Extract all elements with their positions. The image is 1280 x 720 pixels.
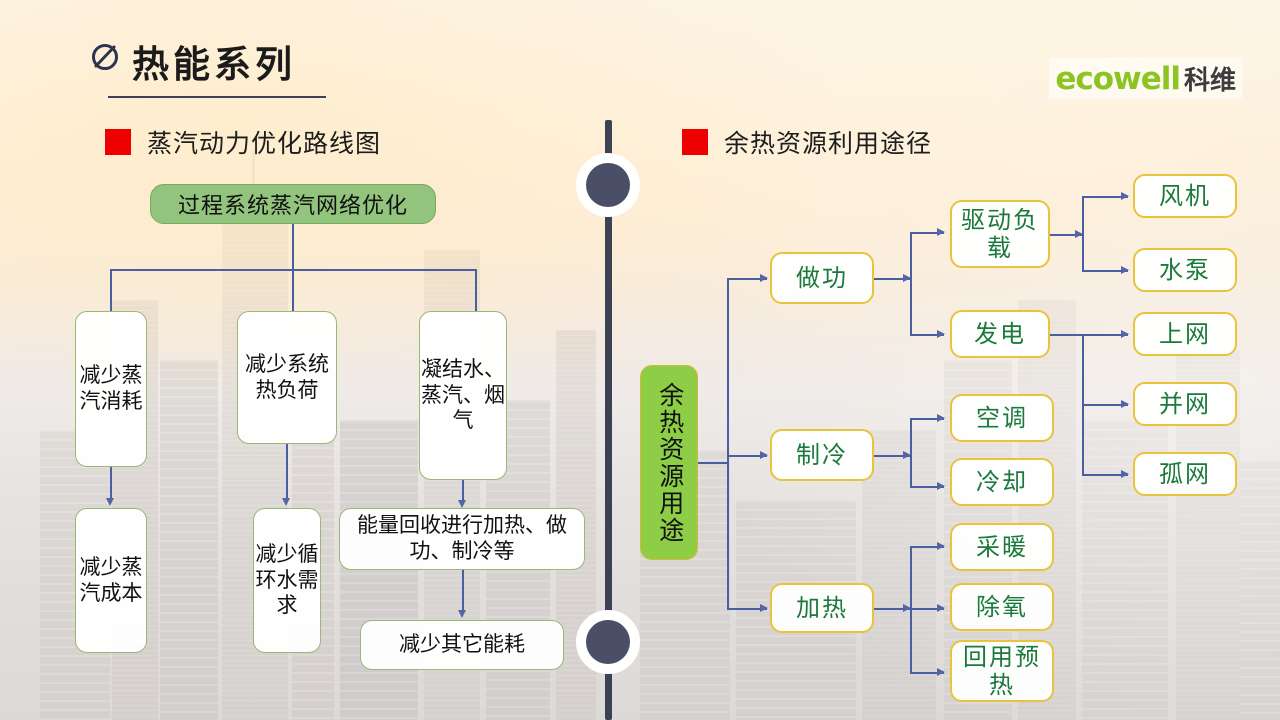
arrow-l1-l2-3 xyxy=(458,500,466,508)
right-child-label-3-2: 除氧 xyxy=(976,593,1028,621)
arrow-leaf-5 xyxy=(1121,470,1129,478)
right-branch-label-3: 加热 xyxy=(796,594,848,622)
right-child-box-2-1[interactable]: 空调 xyxy=(950,394,1054,442)
arrow-b3-child-1 xyxy=(937,542,945,550)
connector-b2-bus xyxy=(910,418,912,486)
connector-root-stem xyxy=(292,224,294,269)
arrow-l1-l2-1 xyxy=(106,498,114,506)
brand-logo: ecowell 科维 xyxy=(1049,58,1242,99)
right-branch-label-1: 做功 xyxy=(796,264,848,292)
connector-b1-bus xyxy=(910,232,912,334)
left-level3-label-1: 减少其它能耗 xyxy=(399,632,525,658)
left-section-heading: 蒸汽动力优化路线图 xyxy=(105,124,381,160)
connector-right-bus xyxy=(727,278,729,610)
left-level2-label-1: 减少蒸汽成本 xyxy=(76,555,146,606)
right-child-label-2-1: 空调 xyxy=(976,404,1028,432)
axis-node-top xyxy=(576,153,640,217)
right-leaf-label-5: 孤网 xyxy=(1159,460,1211,488)
connector-l1-l2-1 xyxy=(110,467,112,500)
right-branch-box-3[interactable]: 加热 xyxy=(770,583,874,633)
right-child-label-3-3: 回用预热 xyxy=(952,643,1052,700)
arrow-b2-child-1 xyxy=(937,414,945,422)
left-level1-label-3: 凝结水、蒸汽、烟气 xyxy=(420,357,506,434)
center-topic-label: 余热资源用途 xyxy=(654,382,684,544)
connector-branch-2 xyxy=(292,269,294,311)
arrow-bus-branch-3 xyxy=(760,604,768,612)
left-level1-box-3[interactable]: 凝结水、蒸汽、烟气 xyxy=(419,311,507,480)
connector-branch-1 xyxy=(110,269,112,311)
right-branch-box-1[interactable]: 做功 xyxy=(770,252,874,304)
arrow-b1-child-2 xyxy=(937,330,945,338)
arrow-b1-child-1 xyxy=(937,228,945,236)
logo-text-en: ecowell xyxy=(1055,61,1180,97)
connector-l1-l2-2 xyxy=(286,444,288,500)
left-level1-label-2: 减少系统热负荷 xyxy=(238,352,336,403)
right-leaf-box-3[interactable]: 上网 xyxy=(1133,312,1237,356)
left-level2-box-1[interactable]: 减少蒸汽成本 xyxy=(75,508,147,653)
slashed-circle-icon xyxy=(89,40,121,72)
right-leaf-label-1: 风机 xyxy=(1159,182,1211,210)
right-child-box-3-3[interactable]: 回用预热 xyxy=(950,640,1054,702)
arrow-b2-child-2 xyxy=(937,482,945,490)
right-child-box-1-2[interactable]: 发电 xyxy=(950,310,1050,358)
left-root-box[interactable]: 过程系统蒸汽网络优化 xyxy=(150,184,436,224)
connector-c11-bus xyxy=(1082,196,1084,270)
title-underline xyxy=(108,96,326,98)
arrow-b3-child-3 xyxy=(937,668,945,676)
right-child-box-1-1[interactable]: 驱动负载 xyxy=(950,200,1050,268)
arrow-l2-l3 xyxy=(458,610,466,618)
left-heading-label: 蒸汽动力优化路线图 xyxy=(147,124,381,160)
arrow-leaf-2 xyxy=(1121,266,1129,274)
connector-l2-l3 xyxy=(462,570,464,612)
arrow-leaf-3 xyxy=(1121,330,1129,338)
right-leaf-label-3: 上网 xyxy=(1159,320,1211,348)
right-child-label-1-1: 驱动负载 xyxy=(952,206,1048,263)
background-wash xyxy=(0,0,1280,720)
left-root-label: 过程系统蒸汽网络优化 xyxy=(178,188,408,220)
connector-l1-l2-3 xyxy=(462,480,464,502)
arrow-bus-branch-2 xyxy=(760,451,768,459)
center-topic-box[interactable]: 余热资源用途 xyxy=(640,365,698,560)
arrow-bus-branch-1 xyxy=(760,274,768,282)
right-branch-label-2: 制冷 xyxy=(796,441,848,469)
right-child-label-3-1: 采暖 xyxy=(976,533,1028,561)
left-level1-box-2[interactable]: 减少系统热负荷 xyxy=(237,311,337,444)
right-leaf-label-4: 并网 xyxy=(1159,390,1211,418)
red-square-bullet-icon xyxy=(105,129,131,155)
connector-branch-3 xyxy=(475,269,477,311)
right-child-box-3-1[interactable]: 采暖 xyxy=(950,523,1054,571)
left-level2-box-3[interactable]: 能量回收进行加热、做功、制冷等 xyxy=(339,508,585,570)
left-level1-box-1[interactable]: 减少蒸汽消耗 xyxy=(75,311,147,467)
right-leaf-label-2: 水泵 xyxy=(1159,256,1211,284)
logo-text-cn: 科维 xyxy=(1184,60,1236,97)
left-level2-label-2: 减少循环水需求 xyxy=(254,542,320,619)
axis-node-bottom xyxy=(576,610,640,674)
right-leaf-box-5[interactable]: 孤网 xyxy=(1133,452,1237,496)
right-leaf-box-1[interactable]: 风机 xyxy=(1133,174,1237,218)
right-child-box-3-2[interactable]: 除氧 xyxy=(950,583,1054,631)
arrow-leaf-4 xyxy=(1121,400,1129,408)
arrow-l1-l2-2 xyxy=(282,498,290,506)
right-child-label-2-2: 冷却 xyxy=(976,468,1028,496)
left-level2-label-3: 能量回收进行加热、做功、制冷等 xyxy=(340,513,584,564)
connector-c12-out xyxy=(1050,334,1082,336)
right-heading-label: 余热资源利用途径 xyxy=(724,124,932,160)
right-leaf-box-2[interactable]: 水泵 xyxy=(1133,248,1237,292)
right-child-box-2-2[interactable]: 冷却 xyxy=(950,458,1054,506)
connector-center-out xyxy=(698,462,728,464)
arrow-b3-child-2 xyxy=(937,604,945,612)
page-title: 热能系列 xyxy=(132,34,296,88)
arrow-leaf-1 xyxy=(1121,192,1129,200)
slide-canvas: 热能系列 ecowell 科维 蒸汽动力优化路线图 过程系统蒸汽网络优化 减少蒸… xyxy=(0,0,1280,720)
right-child-label-1-2: 发电 xyxy=(974,320,1026,348)
left-level3-box-1[interactable]: 减少其它能耗 xyxy=(360,620,564,670)
red-square-bullet-icon xyxy=(682,129,708,155)
right-section-heading: 余热资源利用途径 xyxy=(682,124,932,160)
right-leaf-box-4[interactable]: 并网 xyxy=(1133,382,1237,426)
left-level2-box-2[interactable]: 减少循环水需求 xyxy=(253,508,321,653)
background-photo xyxy=(0,0,1280,720)
left-level1-label-1: 减少蒸汽消耗 xyxy=(76,363,146,414)
right-branch-box-2[interactable]: 制冷 xyxy=(770,429,874,481)
